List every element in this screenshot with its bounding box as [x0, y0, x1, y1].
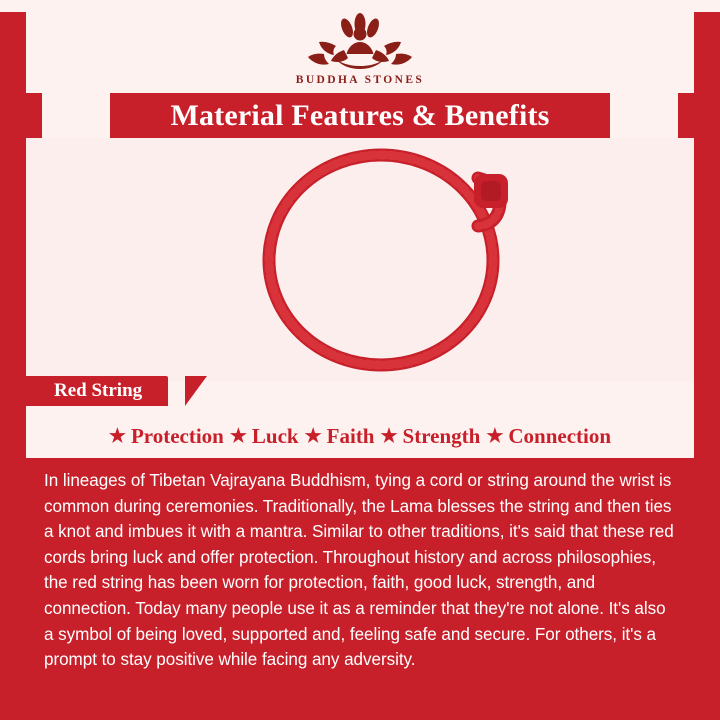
- material-label: Red String: [54, 380, 142, 402]
- star-icon: ★: [109, 427, 126, 446]
- label-tab-angle: [185, 376, 207, 406]
- description-text: In lineages of Tibetan Vajrayana Buddhis…: [44, 468, 676, 673]
- lotus-meditation-figure-icon: [300, 10, 420, 72]
- keyword-label: Strength: [403, 424, 481, 449]
- page-title: Material Features & Benefits: [170, 99, 549, 133]
- keyword-label: Protection: [131, 424, 224, 449]
- keyword-faith: ★ Faith: [305, 424, 375, 449]
- star-icon: ★: [230, 427, 247, 446]
- right-frame-bar: [694, 0, 720, 720]
- hero-image: [26, 138, 694, 381]
- title-banner: Material Features & Benefits: [110, 93, 610, 138]
- star-icon: ★: [381, 427, 398, 446]
- brand-logo: BUDDHA STONES: [0, 10, 720, 86]
- description-panel: In lineages of Tibetan Vajrayana Buddhis…: [26, 458, 694, 720]
- keyword-luck: ★ Luck: [230, 424, 299, 449]
- brand-name: BUDDHA STONES: [296, 74, 424, 86]
- title-band-right-tick: [678, 93, 694, 138]
- material-label-tab: Red String: [26, 376, 168, 406]
- title-band-left-tick: [26, 93, 42, 138]
- keyword-label: Connection: [508, 424, 611, 449]
- left-frame-bar: [0, 0, 26, 720]
- keyword-protection: ★ Protection: [109, 424, 224, 449]
- product-info-graphic: BUDDHA STONES Material Features & Benefi…: [0, 0, 720, 720]
- star-icon: ★: [486, 427, 503, 446]
- keyword-connection: ★ Connection: [486, 424, 611, 449]
- keyword-strength: ★ Strength: [381, 424, 481, 449]
- keyword-label: Luck: [252, 424, 299, 449]
- keyword-label: Faith: [327, 424, 375, 449]
- star-icon: ★: [305, 427, 322, 446]
- benefit-keywords: ★ Protection ★ Luck ★ Faith ★ Strength ★…: [26, 418, 694, 454]
